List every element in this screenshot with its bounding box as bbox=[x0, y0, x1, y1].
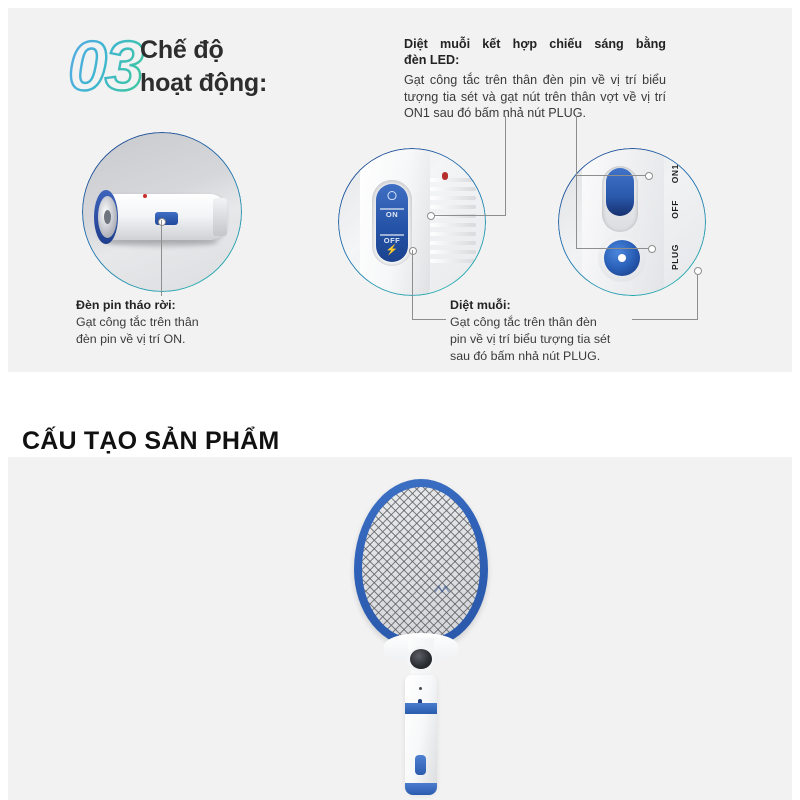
racket-mesh bbox=[362, 487, 480, 639]
switch-label-on: ON bbox=[376, 210, 408, 219]
kill-caption-body: Gạt công tắc trên thân đèn pin về vị trí… bbox=[450, 314, 680, 365]
three-position-slide-switch: ON OFF ⚡ bbox=[376, 184, 408, 262]
handle-band-upper bbox=[405, 703, 437, 714]
leader-line-led-vertical bbox=[505, 116, 506, 216]
modes-title: Chế độ hoạt động: bbox=[140, 34, 267, 99]
operation-modes-panel: 03 Chế độ hoạt động: Diệt muỗi kết hợp c… bbox=[8, 8, 792, 372]
handle-pinhole bbox=[419, 687, 422, 690]
bulb-icon bbox=[388, 191, 397, 200]
flashlight-caption-heading: Đèn pin tháo rời: bbox=[76, 297, 276, 313]
brand-logo bbox=[434, 581, 450, 591]
plug-button-center bbox=[618, 254, 626, 262]
leader-line-flashlight bbox=[161, 276, 162, 296]
leader-dot-flashlight-switch bbox=[158, 218, 166, 226]
flashlight-lens-center bbox=[104, 210, 111, 224]
led-lamp-lens bbox=[410, 649, 432, 669]
led-mode-heading-line2: đèn LED: bbox=[404, 52, 666, 68]
leader-line-flashlight-stem bbox=[161, 220, 162, 278]
step-number-text: 03 bbox=[68, 32, 144, 104]
leader-line-kill-right bbox=[697, 270, 698, 320]
leader-line-kill-left bbox=[412, 250, 413, 319]
handle-slide-switch bbox=[415, 755, 426, 775]
kill-mosquito-caption: Diệt muỗi: Gạt công tắc trên thân đèn pi… bbox=[450, 297, 680, 365]
leader-line-led-horizontal bbox=[432, 215, 506, 216]
product-structure-panel: Lưới thép không gỉ Logo Rạng Đông Công t… bbox=[8, 457, 792, 800]
leader-line-racket-bracket bbox=[576, 175, 577, 249]
leader-dot-led-switch bbox=[427, 212, 435, 220]
led-mode-heading: Diệt muỗi kết hợp chiếu sáng bằng đèn LE… bbox=[404, 36, 666, 69]
indicator-led bbox=[442, 172, 448, 180]
flashlight-caption: Đèn pin tháo rời: Gạt công tắc trên thân… bbox=[76, 297, 276, 348]
flashlight-tail bbox=[213, 198, 227, 236]
leader-line-kill-left-foot bbox=[412, 319, 446, 320]
flashlight-photo-circle bbox=[82, 132, 242, 292]
led-mode-body: Gạt công tắc trên thân đèn pin về vị trí… bbox=[404, 72, 666, 123]
leader-dot-racket-on1 bbox=[645, 172, 653, 180]
handle-band-lower bbox=[405, 783, 437, 795]
switch-label-off: OFF bbox=[376, 236, 408, 245]
grip-ribs bbox=[430, 178, 478, 274]
switch-label-on1: ON1 bbox=[670, 164, 680, 183]
flashlight-caption-body: Gạt công tắc trên thân đèn pin về vị trí… bbox=[76, 314, 276, 348]
leader-dot-kill-switch bbox=[409, 247, 417, 255]
leader-dot-kill-plug bbox=[694, 267, 702, 275]
leader-line-racket-plug bbox=[576, 248, 651, 249]
indicator-led bbox=[143, 194, 147, 198]
kill-caption-heading: Diệt muỗi: bbox=[450, 297, 680, 313]
leader-dot-racket-plug bbox=[648, 245, 656, 253]
switch-label-off: OFF bbox=[670, 200, 680, 219]
led-mode-block: Diệt muỗi kết hợp chiếu sáng bằng đèn LE… bbox=[404, 36, 666, 122]
racket-control-photo-circle: ON1 OFF PLUG bbox=[558, 148, 706, 296]
racket-handle bbox=[405, 675, 437, 793]
racket-head-frame bbox=[354, 479, 488, 647]
mosquito-racket-illustration bbox=[326, 463, 506, 800]
led-mode-heading-line1: Diệt muỗi kết hợp chiếu sáng bằng bbox=[404, 37, 666, 51]
switch-label-plug: PLUG bbox=[670, 244, 680, 270]
leader-line-racket-on1 bbox=[576, 175, 648, 176]
section-title: CẤU TẠO SẢN PHẨM bbox=[22, 427, 279, 456]
lightning-bolt-icon: ⚡ bbox=[386, 246, 398, 256]
